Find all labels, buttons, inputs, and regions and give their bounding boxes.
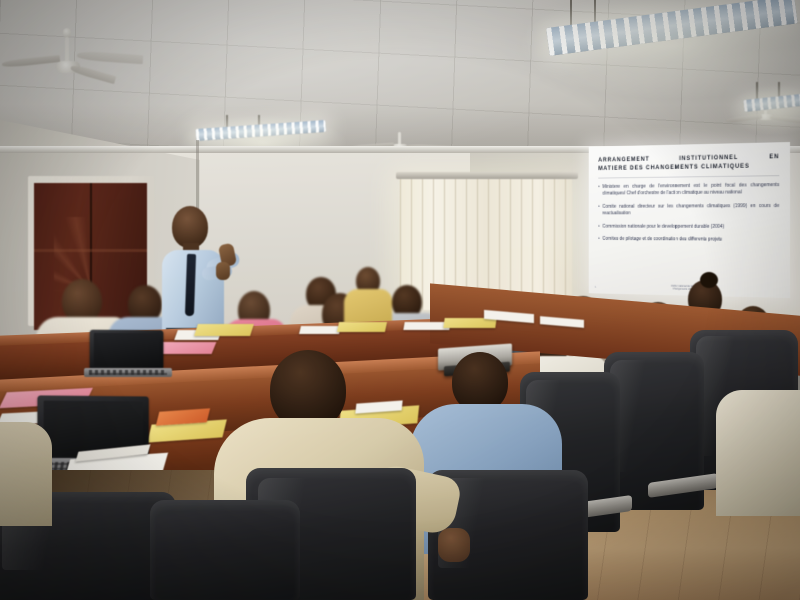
foreground-participant-left	[0, 404, 64, 524]
slide-bullet: • Commission nationale pour le developpe…	[598, 223, 779, 231]
foreground-participant-right	[716, 390, 800, 520]
slide-bullet: • Comites de pilotage et de coordination…	[598, 236, 779, 244]
photo-scene: ARRANGEMENT INSTITUTIONNEL EN MATIERE DE…	[0, 0, 800, 600]
yellow-folder[interactable]	[337, 322, 387, 332]
laptop-display	[93, 333, 159, 367]
bullet-marker-icon: •	[598, 223, 600, 230]
fluorescent-light-right	[744, 82, 800, 128]
participant-body	[716, 390, 800, 516]
paper-sheet[interactable]	[540, 316, 584, 328]
slide-bullet: • Comite national directeur sur les chan…	[598, 203, 779, 218]
office-chair[interactable]	[150, 500, 300, 600]
participant-hair-bun	[700, 272, 718, 288]
participant-body	[0, 422, 52, 526]
bullet-text: Comites de pilotage et de coordination d…	[602, 236, 779, 244]
door-midrail	[34, 249, 147, 252]
fluorescent-light-main	[548, 0, 798, 80]
slide-title: ARRANGEMENT INSTITUTIONNEL EN MATIERE DE…	[598, 152, 779, 173]
bullet-text: Comite national directeur sur les change…	[602, 203, 779, 218]
ceiling-fan-left	[50, 28, 180, 93]
presenter-hand-left	[216, 262, 230, 280]
bullet-text: Ministere en charge de l'environnement e…	[602, 182, 779, 198]
slide-title-line-2: MATIERE DES CHANGEMENTS CLIMATIQUES	[598, 161, 779, 173]
slide-bullet-list: • Ministere en charge de l'environnement…	[598, 182, 779, 244]
presenter-head	[172, 206, 208, 248]
paper-sheet[interactable]	[484, 310, 534, 323]
slide-divider	[598, 175, 779, 178]
participant-hand	[438, 528, 470, 562]
participant-head	[452, 352, 508, 412]
slide-bullet: • Ministere en charge de l'environnement…	[598, 182, 779, 198]
bullet-text: Commission nationale pour le developpeme…	[602, 223, 779, 231]
bullet-marker-icon: •	[598, 184, 600, 198]
paper-sheet[interactable]	[299, 326, 341, 334]
yellow-folder[interactable]	[194, 324, 254, 336]
bullet-marker-icon: •	[598, 236, 600, 243]
bullet-marker-icon: •	[598, 204, 600, 218]
